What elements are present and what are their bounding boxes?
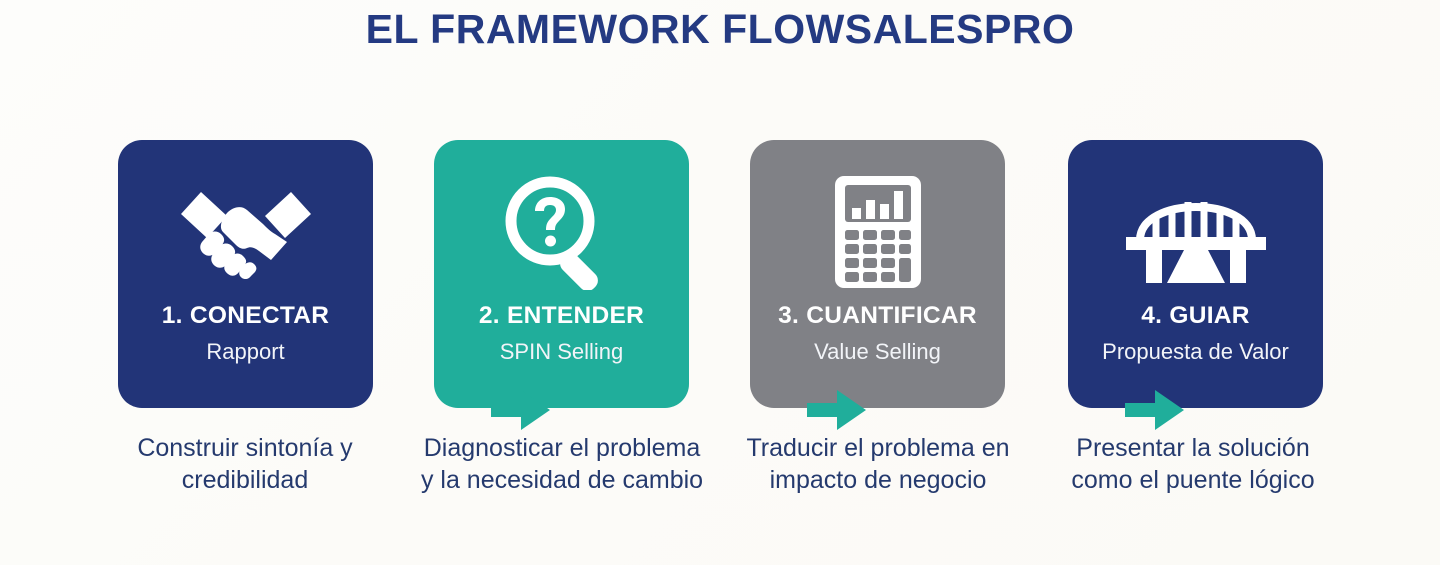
arrow-step-2-to-3: [807, 388, 867, 432]
step-caption-guiar: Presentar la solución como el puente lóg…: [1048, 432, 1338, 496]
step-card-guiar[interactable]: 4. GUIAR Propuesta de Valor: [1068, 140, 1323, 408]
step-caption-conectar: Construir sintonía y credibilidad: [100, 432, 390, 496]
arrow-step-3-to-4: [1125, 388, 1185, 432]
calculator-icon: [835, 174, 921, 290]
step-title: 3. CUANTIFICAR: [750, 302, 1005, 330]
arrow-step-1-to-2: [491, 388, 551, 432]
step-card-text: 3. CUANTIFICAR Value Selling: [750, 302, 1005, 364]
step-card-entender[interactable]: 2. ENTENDER SPIN Selling: [434, 140, 689, 408]
step-card-text: 1. CONECTAR Rapport: [118, 302, 373, 364]
step-title: 2. ENTENDER: [434, 302, 689, 330]
step-caption-entender: Diagnosticar el problema y la necesidad …: [417, 432, 707, 496]
step-card-conectar[interactable]: 1. CONECTAR Rapport: [118, 140, 373, 408]
magnifier-question-icon: [503, 174, 621, 290]
framework-infographic: EL FRAMEWORK FLOWSALESPRO: [0, 0, 1440, 565]
step-subtitle: SPIN Selling: [434, 339, 689, 364]
page-title: EL FRAMEWORK FLOWSALESPRO: [0, 6, 1440, 53]
bridge-icon: [1124, 174, 1268, 290]
step-title: 1. CONECTAR: [118, 302, 373, 330]
step-subtitle: Value Selling: [750, 339, 1005, 364]
step-card-text: 4. GUIAR Propuesta de Valor: [1068, 302, 1323, 364]
steps-row: 1. CONECTAR Rapport 2. ENTEN: [118, 140, 1323, 408]
step-subtitle: Propuesta de Valor: [1068, 339, 1323, 364]
step-caption-cuantificar: Traducir el problema en impacto de negoc…: [733, 432, 1023, 496]
step-card-text: 2. ENTENDER SPIN Selling: [434, 302, 689, 364]
captions-row: Construir sintonía y credibilidad Diagno…: [100, 432, 1350, 557]
handshake-icon: [175, 174, 317, 290]
step-card-cuantificar[interactable]: 3. CUANTIFICAR Value Selling: [750, 140, 1005, 408]
step-title: 4. GUIAR: [1068, 302, 1323, 330]
step-subtitle: Rapport: [118, 339, 373, 364]
